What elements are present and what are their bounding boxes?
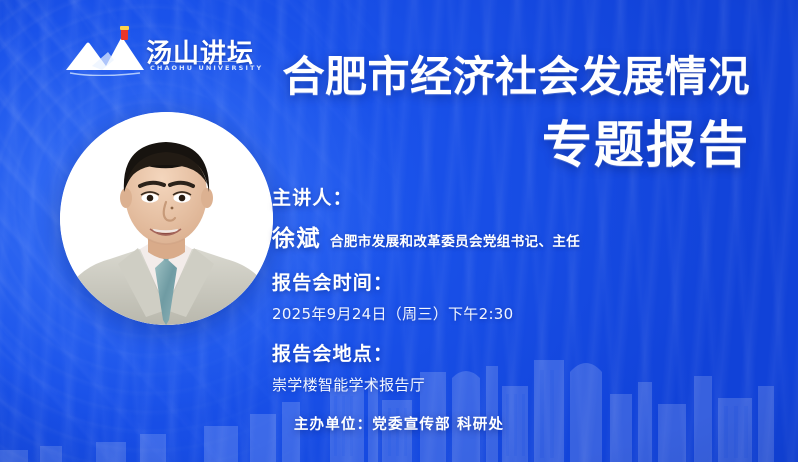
- headline-line-1: 合肥市经济社会发展情况: [210, 56, 750, 98]
- time-label: 报告会时间：: [272, 273, 742, 294]
- event-info-block: 主讲人： 徐斌 合肥市发展和改革委员会党组书记、主任 报告会时间： 2025年9…: [272, 188, 742, 395]
- speaker-label: 主讲人：: [272, 188, 742, 209]
- organizer-line: 主办单位：党委宣传部 科研处: [0, 413, 798, 434]
- headline-line-2: 专题报告: [210, 120, 750, 170]
- speaker-title: 合肥市发展和改革委员会党组书记、主任: [330, 230, 580, 250]
- speaker-row: 徐斌 合肥市发展和改革委员会党组书记、主任: [272, 219, 742, 253]
- time-group: 报告会时间： 2025年9月24日（周三）下午2:30: [272, 273, 742, 324]
- headline-block: 合肥市经济社会发展情况 专题报告: [210, 56, 750, 170]
- speaker-name: 徐斌: [272, 219, 321, 253]
- place-label: 报告会地点：: [272, 344, 742, 365]
- place-group: 报告会地点： 崇学楼智能学术报告厅: [272, 344, 742, 395]
- poster-canvas: 汤山讲坛 CHAOHU UNIVERSITY 合肥市经济社会发展情况 专题报告: [0, 0, 798, 462]
- mountain-logo-icon: [62, 26, 158, 76]
- speaker-portrait: [60, 112, 273, 325]
- time-value: 2025年9月24日（周三）下午2:30: [272, 303, 742, 324]
- place-value: 崇学楼智能学术报告厅: [272, 374, 742, 395]
